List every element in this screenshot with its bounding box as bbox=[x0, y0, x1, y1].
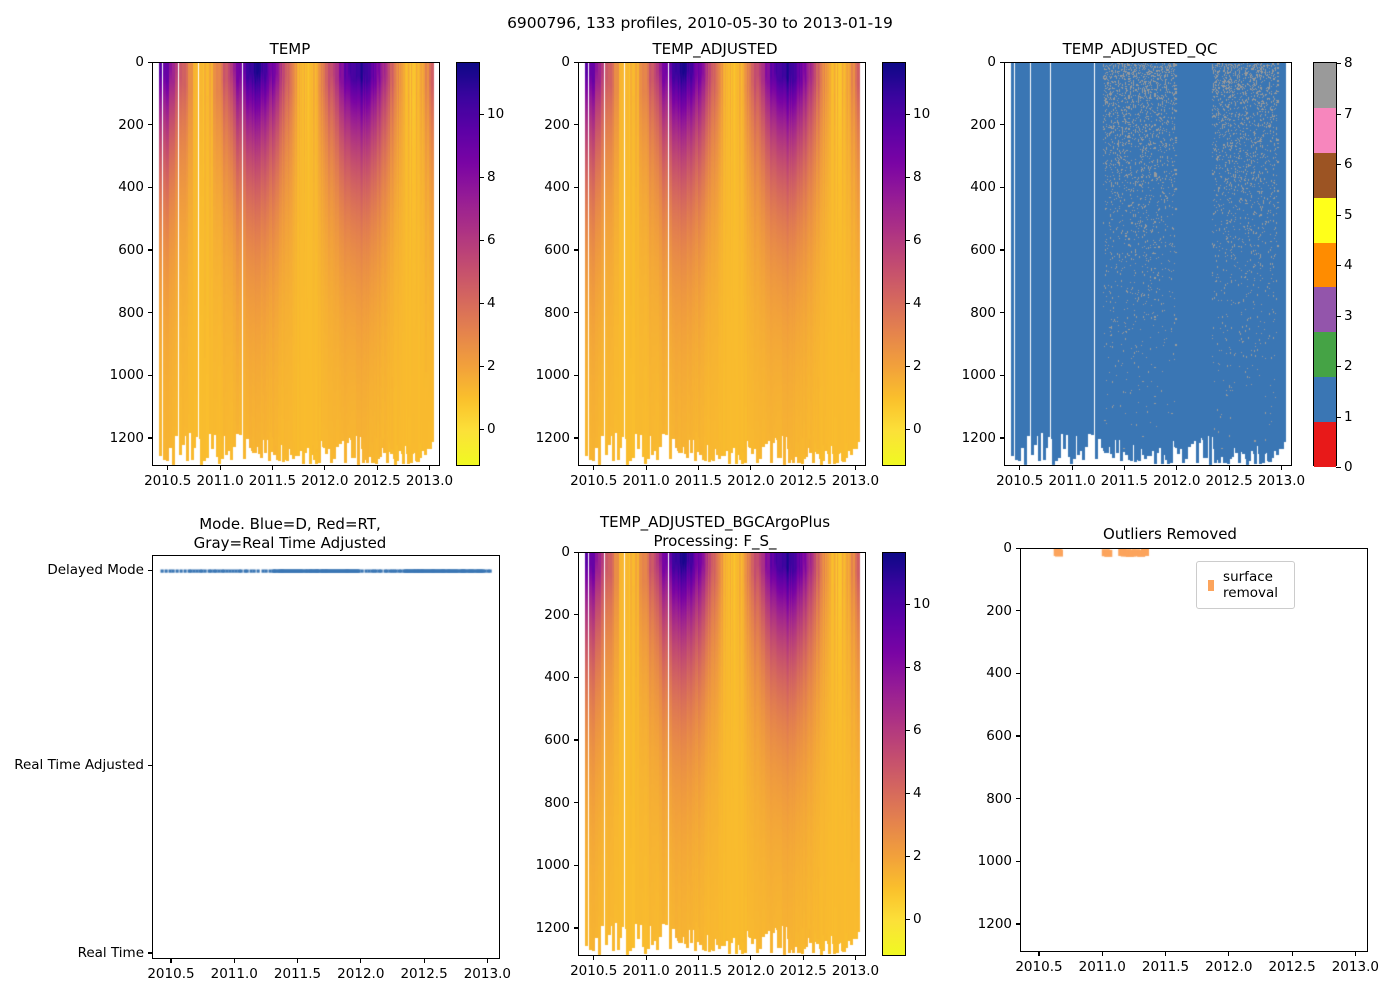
panel-mode-title-line1: Mode. Blue=D, Red=RT, bbox=[140, 515, 440, 534]
panel-bgc-title-line2: Processing: F_S_ bbox=[555, 532, 875, 551]
y-tick-label: 400 bbox=[948, 179, 996, 195]
qc-colorbar-band bbox=[1314, 287, 1336, 332]
colorbar-bgcargoplus: 0246810 bbox=[882, 552, 906, 956]
axes-temp-adjusted-bgcargoplus[interactable] bbox=[578, 552, 866, 956]
x-tickmark bbox=[698, 466, 699, 470]
y-tick-label: 1200 bbox=[522, 920, 570, 936]
y-tick-label: 800 bbox=[522, 795, 570, 811]
colorbar-tickmark bbox=[1336, 63, 1341, 64]
colorbar-tick-label: 8 bbox=[1344, 55, 1353, 71]
axes-temp-adjusted[interactable] bbox=[578, 62, 866, 466]
y-tickmark bbox=[1016, 923, 1020, 924]
y-tickmark bbox=[1016, 798, 1020, 799]
colorbar-tickmark bbox=[1336, 164, 1341, 165]
x-tick-label: 2010.5 bbox=[570, 473, 617, 489]
y-tick-label: 1200 bbox=[96, 430, 144, 446]
colorbar-tick-label: 3 bbox=[1344, 308, 1353, 324]
colorbar-tick-label: 4 bbox=[913, 785, 922, 801]
x-tickmark bbox=[1292, 952, 1293, 956]
y-tickmark bbox=[574, 927, 578, 928]
y-tick-label: 600 bbox=[964, 728, 1012, 744]
y-tickmark bbox=[1000, 124, 1004, 125]
y-tickmark bbox=[574, 865, 578, 866]
colorbar-tickmark bbox=[1336, 114, 1341, 115]
x-tick-label: 2011.0 bbox=[196, 473, 243, 489]
panel-mode-title-line2: Gray=Real Time Adjusted bbox=[140, 534, 440, 553]
colorbar-temp: 0246810 bbox=[456, 62, 480, 466]
panel-outliers-title: Outliers Removed bbox=[1000, 525, 1340, 544]
x-tickmark bbox=[593, 466, 594, 470]
y-tick-label: 0 bbox=[522, 544, 570, 560]
colorbar-tickmark bbox=[479, 366, 484, 367]
y-tickmark bbox=[574, 249, 578, 250]
y-tick-label: 1000 bbox=[522, 857, 570, 873]
x-tickmark bbox=[1102, 952, 1103, 956]
y-tick-label: 1000 bbox=[96, 367, 144, 383]
x-tickmark bbox=[429, 466, 430, 470]
colorbar-tickmark bbox=[905, 604, 910, 605]
x-tick-label: 2012.5 bbox=[400, 966, 447, 982]
x-tickmark bbox=[855, 466, 856, 470]
y-tickmark bbox=[1000, 375, 1004, 376]
y-tickmark bbox=[1000, 249, 1004, 250]
y-tickmark bbox=[1000, 187, 1004, 188]
y-tick-label: Delayed Mode bbox=[2, 562, 144, 578]
panel-temp-adjusted-title: TEMP_ADJUSTED bbox=[565, 40, 865, 59]
y-tick-label: 800 bbox=[948, 305, 996, 321]
y-tickmark bbox=[574, 552, 578, 553]
axes-mode[interactable] bbox=[152, 555, 500, 959]
y-tick-label: 800 bbox=[964, 791, 1012, 807]
x-tick-label: 2011.5 bbox=[249, 473, 296, 489]
y-tick-label: 1000 bbox=[522, 367, 570, 383]
qc-colorbar-band bbox=[1314, 332, 1336, 377]
colorbar-tickmark bbox=[479, 303, 484, 304]
y-tickmark bbox=[1000, 62, 1004, 63]
x-tickmark bbox=[1165, 952, 1166, 956]
x-tick-label: 2010.5 bbox=[570, 963, 617, 979]
x-tickmark bbox=[234, 959, 235, 963]
x-tick-label: 2011.5 bbox=[1142, 959, 1189, 975]
x-tickmark bbox=[272, 466, 273, 470]
y-tick-label: 0 bbox=[522, 54, 570, 70]
colorbar-tick-label: 6 bbox=[487, 232, 496, 248]
y-tickmark bbox=[574, 614, 578, 615]
colorbar-tick-label: 0 bbox=[913, 421, 922, 437]
axes-temp-adjusted-qc[interactable] bbox=[1004, 62, 1292, 466]
x-tick-label: 2012.0 bbox=[1205, 959, 1252, 975]
colorbar-tickmark bbox=[905, 303, 910, 304]
y-tickmark bbox=[148, 765, 152, 766]
y-tickmark bbox=[148, 952, 152, 953]
colorbar-tick-label: 1 bbox=[1344, 409, 1353, 425]
panel-temp-adjusted-qc-title: TEMP_ADJUSTED_QC bbox=[990, 40, 1290, 59]
y-tickmark bbox=[1016, 673, 1020, 674]
colorbar-tick-label: 10 bbox=[913, 596, 930, 612]
y-tick-label: 1200 bbox=[964, 916, 1012, 932]
colorbar-tickmark bbox=[1336, 316, 1341, 317]
x-tick-label: 2010.5 bbox=[996, 473, 1043, 489]
y-tickmark bbox=[1016, 548, 1020, 549]
y-tickmark bbox=[574, 187, 578, 188]
x-tickmark bbox=[1228, 952, 1229, 956]
x-tickmark bbox=[167, 466, 168, 470]
colorbar-temp-adjusted: 0246810 bbox=[882, 62, 906, 466]
x-tickmark bbox=[1038, 952, 1039, 956]
colorbar-tickmark bbox=[905, 730, 910, 731]
x-tick-label: 2012.0 bbox=[337, 966, 384, 982]
y-tickmark bbox=[148, 312, 152, 313]
x-tick-label: 2011.5 bbox=[675, 963, 722, 979]
colorbar-tickmark bbox=[1336, 215, 1341, 216]
y-tick-label: 1000 bbox=[948, 367, 996, 383]
qc-colorbar-band bbox=[1314, 377, 1336, 422]
colorbar-tickmark bbox=[905, 793, 910, 794]
x-tick-label: 2013.0 bbox=[406, 473, 453, 489]
x-tick-label: 2012.5 bbox=[1268, 959, 1315, 975]
x-tickmark bbox=[855, 956, 856, 960]
x-tick-label: 2011.0 bbox=[1079, 959, 1126, 975]
y-tickmark bbox=[574, 375, 578, 376]
y-tickmark bbox=[574, 312, 578, 313]
surface-removal-swatch-icon bbox=[1208, 580, 1214, 591]
x-tickmark bbox=[170, 959, 171, 963]
figure-canvas: 6900796, 133 profiles, 2010-05-30 to 201… bbox=[0, 0, 1400, 1000]
colorbar-tick-label: 10 bbox=[487, 106, 504, 122]
colorbar-tick-label: 6 bbox=[1344, 156, 1353, 172]
y-tick-label: Real Time bbox=[2, 945, 144, 961]
x-tickmark bbox=[424, 959, 425, 963]
y-tick-label: 200 bbox=[964, 603, 1012, 619]
y-tickmark bbox=[1000, 312, 1004, 313]
x-tick-label: 2013.0 bbox=[832, 963, 879, 979]
colorbar-qc: 012345678 bbox=[1313, 62, 1337, 466]
x-tick-label: 2011.5 bbox=[1101, 473, 1148, 489]
qc-colorbar-band bbox=[1314, 63, 1336, 108]
y-tickmark bbox=[574, 62, 578, 63]
y-tickmark bbox=[148, 375, 152, 376]
y-tickmark bbox=[574, 677, 578, 678]
y-tick-label: Real Time Adjusted bbox=[2, 757, 144, 773]
x-tickmark bbox=[1072, 466, 1073, 470]
y-tickmark bbox=[1016, 610, 1020, 611]
y-tick-label: 600 bbox=[96, 242, 144, 258]
colorbar-tickmark bbox=[1336, 366, 1341, 367]
y-tickmark bbox=[574, 802, 578, 803]
y-tick-label: 0 bbox=[96, 54, 144, 70]
colorbar-tickmark bbox=[905, 240, 910, 241]
y-tick-label: 1000 bbox=[964, 853, 1012, 869]
x-tickmark bbox=[324, 466, 325, 470]
colorbar-tick-label: 2 bbox=[487, 358, 496, 374]
x-tickmark bbox=[1176, 466, 1177, 470]
qc-colorbar-band bbox=[1314, 422, 1336, 467]
panel-bgc-title-line1: TEMP_ADJUSTED_BGCArgoPlus bbox=[555, 513, 875, 532]
y-tickmark bbox=[148, 62, 152, 63]
colorbar-tick-label: 4 bbox=[1344, 257, 1353, 273]
colorbar-tick-label: 0 bbox=[487, 421, 496, 437]
x-tick-label: 2010.5 bbox=[147, 966, 194, 982]
colorbar-tickmark bbox=[479, 114, 484, 115]
x-tickmark bbox=[698, 956, 699, 960]
x-tickmark bbox=[1281, 466, 1282, 470]
qc-colorbar-band bbox=[1314, 243, 1336, 288]
y-tickmark bbox=[574, 437, 578, 438]
x-tickmark bbox=[646, 956, 647, 960]
qc-colorbar-band bbox=[1314, 153, 1336, 198]
y-tick-label: 200 bbox=[522, 117, 570, 133]
colorbar-tick-label: 5 bbox=[1344, 207, 1353, 223]
colorbar-tick-label: 6 bbox=[913, 232, 922, 248]
colorbar-tickmark bbox=[479, 177, 484, 178]
colorbar-tick-label: 2 bbox=[1344, 358, 1353, 374]
y-tick-label: 0 bbox=[948, 54, 996, 70]
x-tick-label: 2010.5 bbox=[144, 473, 191, 489]
y-tickmark bbox=[148, 124, 152, 125]
x-tickmark bbox=[750, 956, 751, 960]
colorbar-tick-label: 4 bbox=[913, 295, 922, 311]
x-tick-label: 2012.5 bbox=[780, 473, 827, 489]
y-tick-label: 600 bbox=[522, 242, 570, 258]
x-tick-label: 2011.0 bbox=[1048, 473, 1095, 489]
colorbar-tick-label: 10 bbox=[913, 106, 930, 122]
axes-outliers-removed[interactable] bbox=[1020, 548, 1368, 952]
colorbar-tick-label: 0 bbox=[1344, 459, 1353, 475]
x-tick-label: 2012.5 bbox=[780, 963, 827, 979]
y-tickmark bbox=[574, 124, 578, 125]
colorbar-tickmark bbox=[905, 856, 910, 857]
colorbar-tick-label: 6 bbox=[913, 722, 922, 738]
x-tickmark bbox=[487, 959, 488, 963]
colorbar-tickmark bbox=[479, 429, 484, 430]
y-tick-label: 400 bbox=[964, 665, 1012, 681]
colorbar-tickmark bbox=[905, 366, 910, 367]
x-tickmark bbox=[297, 959, 298, 963]
x-tick-label: 2012.0 bbox=[301, 473, 348, 489]
x-tick-label: 2010.5 bbox=[1015, 959, 1062, 975]
x-tickmark bbox=[377, 466, 378, 470]
qc-colorbar-band bbox=[1314, 198, 1336, 243]
x-tickmark bbox=[803, 466, 804, 470]
y-tickmark bbox=[574, 739, 578, 740]
y-tick-label: 1200 bbox=[522, 430, 570, 446]
x-tick-label: 2013.0 bbox=[1258, 473, 1305, 489]
qc-colorbar-band bbox=[1314, 108, 1336, 153]
x-tick-label: 2011.5 bbox=[675, 473, 722, 489]
x-tickmark bbox=[803, 956, 804, 960]
colorbar-tickmark bbox=[1336, 467, 1341, 468]
colorbar-tickmark bbox=[905, 919, 910, 920]
colorbar-tickmark bbox=[1336, 265, 1341, 266]
x-tick-label: 2011.5 bbox=[274, 966, 321, 982]
y-tick-label: 400 bbox=[522, 669, 570, 685]
panel-temp-title: TEMP bbox=[140, 40, 440, 59]
x-tick-label: 2011.0 bbox=[622, 963, 669, 979]
x-tick-label: 2011.0 bbox=[622, 473, 669, 489]
y-tickmark bbox=[148, 437, 152, 438]
axes-temp[interactable] bbox=[152, 62, 440, 466]
colorbar-tick-label: 8 bbox=[913, 169, 922, 185]
x-tickmark bbox=[220, 466, 221, 470]
colorbar-tick-label: 8 bbox=[913, 659, 922, 675]
colorbar-tick-label: 0 bbox=[913, 911, 922, 927]
colorbar-tickmark bbox=[1336, 417, 1341, 418]
colorbar-tickmark bbox=[905, 114, 910, 115]
x-tickmark bbox=[1229, 466, 1230, 470]
y-tick-label: 600 bbox=[948, 242, 996, 258]
x-tick-label: 2013.0 bbox=[832, 473, 879, 489]
x-tickmark bbox=[750, 466, 751, 470]
colorbar-tickmark bbox=[479, 240, 484, 241]
colorbar-tickmark bbox=[905, 429, 910, 430]
figure-suptitle: 6900796, 133 profiles, 2010-05-30 to 201… bbox=[0, 14, 1400, 32]
y-tickmark bbox=[1016, 735, 1020, 736]
y-tickmark bbox=[1016, 861, 1020, 862]
y-tick-label: 200 bbox=[948, 117, 996, 133]
y-tick-label: 800 bbox=[96, 305, 144, 321]
legend-label-surface-removal: surface removal bbox=[1223, 569, 1283, 601]
x-tick-label: 2012.0 bbox=[727, 963, 774, 979]
colorbar-tick-label: 2 bbox=[913, 848, 922, 864]
x-tickmark bbox=[593, 956, 594, 960]
y-tickmark bbox=[148, 570, 152, 571]
y-tick-label: 1200 bbox=[948, 430, 996, 446]
y-tickmark bbox=[1000, 437, 1004, 438]
x-tick-label: 2012.5 bbox=[354, 473, 401, 489]
y-tick-label: 200 bbox=[522, 607, 570, 623]
x-tick-label: 2012.0 bbox=[727, 473, 774, 489]
y-tick-label: 400 bbox=[96, 179, 144, 195]
colorbar-tickmark bbox=[905, 667, 910, 668]
colorbar-tick-label: 4 bbox=[487, 295, 496, 311]
x-tickmark bbox=[1019, 466, 1020, 470]
x-tick-label: 2011.0 bbox=[211, 966, 258, 982]
colorbar-tick-label: 8 bbox=[487, 169, 496, 185]
colorbar-tickmark bbox=[905, 177, 910, 178]
y-tickmark bbox=[148, 187, 152, 188]
colorbar-tick-label: 2 bbox=[913, 358, 922, 374]
x-tickmark bbox=[646, 466, 647, 470]
y-tick-label: 200 bbox=[96, 117, 144, 133]
y-tick-label: 0 bbox=[964, 540, 1012, 556]
y-tick-label: 400 bbox=[522, 179, 570, 195]
y-tick-label: 600 bbox=[522, 732, 570, 748]
x-tickmark bbox=[360, 959, 361, 963]
y-tick-label: 800 bbox=[522, 305, 570, 321]
y-tickmark bbox=[148, 249, 152, 250]
x-tick-label: 2012.0 bbox=[1153, 473, 1200, 489]
x-tick-label: 2013.0 bbox=[464, 966, 511, 982]
legend-outliers[interactable]: surface removal bbox=[1196, 561, 1295, 609]
x-tickmark bbox=[1124, 466, 1125, 470]
x-tick-label: 2012.5 bbox=[1206, 473, 1253, 489]
colorbar-tick-label: 7 bbox=[1344, 106, 1353, 122]
x-tickmark bbox=[1355, 952, 1356, 956]
x-tick-label: 2013.0 bbox=[1332, 959, 1379, 975]
